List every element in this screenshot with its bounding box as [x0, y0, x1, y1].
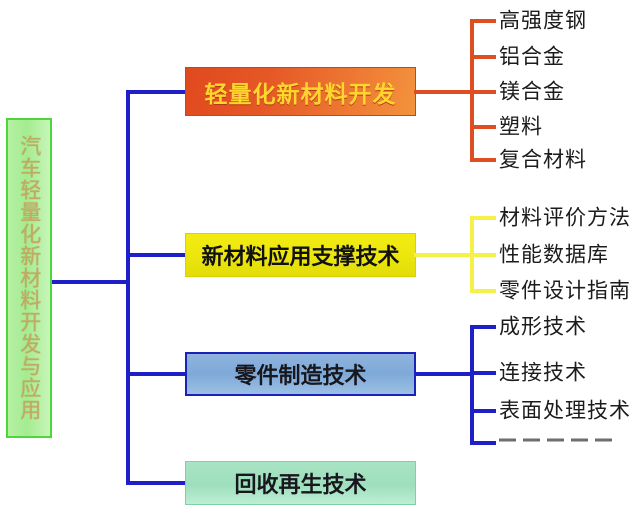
branch-node-materials[interactable]: 轻量化新材料开发	[185, 67, 416, 116]
trunk-branch-3-line	[126, 372, 188, 376]
dash-segment	[499, 439, 516, 442]
trunk-stem-line	[52, 280, 130, 284]
branch-node-support-label: 新材料应用支撑技术	[201, 239, 399, 271]
branch-node-recycling[interactable]: 回收再生技术	[185, 461, 416, 505]
branch-2-leaf-line-3	[470, 289, 496, 293]
leaf-item[interactable]: 连接技术	[499, 363, 587, 384]
branch-1-leaf-line-5	[470, 158, 496, 162]
branch-2-leaf-line-2	[470, 253, 496, 257]
branch-1-leaf-line-3	[470, 90, 496, 94]
trunk-branch-1-line	[126, 90, 188, 94]
trunk-branch-4-line	[126, 481, 188, 485]
trunk-spine-line	[126, 90, 130, 485]
leaf-item[interactable]: 铝合金	[499, 47, 565, 68]
trunk-branch-2-line	[126, 253, 188, 257]
leaf-item[interactable]: 镁合金	[499, 82, 565, 103]
leaf-item[interactable]: 表面处理技术	[499, 401, 631, 422]
root-node-label: 汽车轻量化新材料开发与应用	[18, 135, 39, 421]
branch-node-recycling-label: 回收再生技术	[234, 467, 366, 499]
branch-2-leaf-line-1	[470, 216, 496, 220]
branch-3-stem-line	[414, 372, 474, 376]
branch-3-spine-line	[470, 325, 474, 444]
branch-3-leaf-line-1	[470, 325, 496, 329]
branch-1-stem-line	[414, 90, 474, 94]
dash-segment	[523, 439, 540, 442]
branch-3-leaf-line-4	[470, 441, 496, 445]
dash-segment	[571, 439, 588, 442]
leaf-item[interactable]: 高强度钢	[499, 11, 587, 32]
branch-1-leaf-line-4	[470, 125, 496, 129]
branch-3-leaf-line-2	[470, 371, 496, 375]
branch-1-leaf-line-2	[470, 55, 496, 59]
leaf-item[interactable]: 塑料	[499, 117, 543, 138]
dash-segment	[595, 439, 612, 442]
branch-1-leaf-line-1	[470, 19, 496, 23]
branch-2-stem-line	[414, 253, 474, 257]
leaf-item[interactable]: 材料评价方法	[499, 208, 631, 229]
dash-segment	[547, 439, 564, 442]
diagram-canvas: 汽车轻量化新材料开发与应用 轻量化新材料开发 高强度钢 铝合金 镁合金 塑料 复…	[0, 0, 640, 508]
branch-node-support[interactable]: 新材料应用支撑技术	[185, 233, 416, 277]
branch-node-manufacturing-label: 零件制造技术	[234, 358, 366, 390]
leaf-item-placeholder-dashes	[499, 439, 612, 442]
branch-node-manufacturing[interactable]: 零件制造技术	[185, 352, 416, 396]
root-node[interactable]: 汽车轻量化新材料开发与应用	[6, 118, 52, 438]
leaf-item[interactable]: 零件设计指南	[499, 281, 631, 302]
leaf-item[interactable]: 成形技术	[499, 317, 587, 338]
branch-node-materials-label: 轻量化新材料开发	[205, 75, 397, 109]
leaf-item[interactable]: 性能数据库	[499, 245, 609, 266]
branch-3-leaf-line-3	[470, 409, 496, 413]
leaf-item[interactable]: 复合材料	[499, 150, 587, 171]
